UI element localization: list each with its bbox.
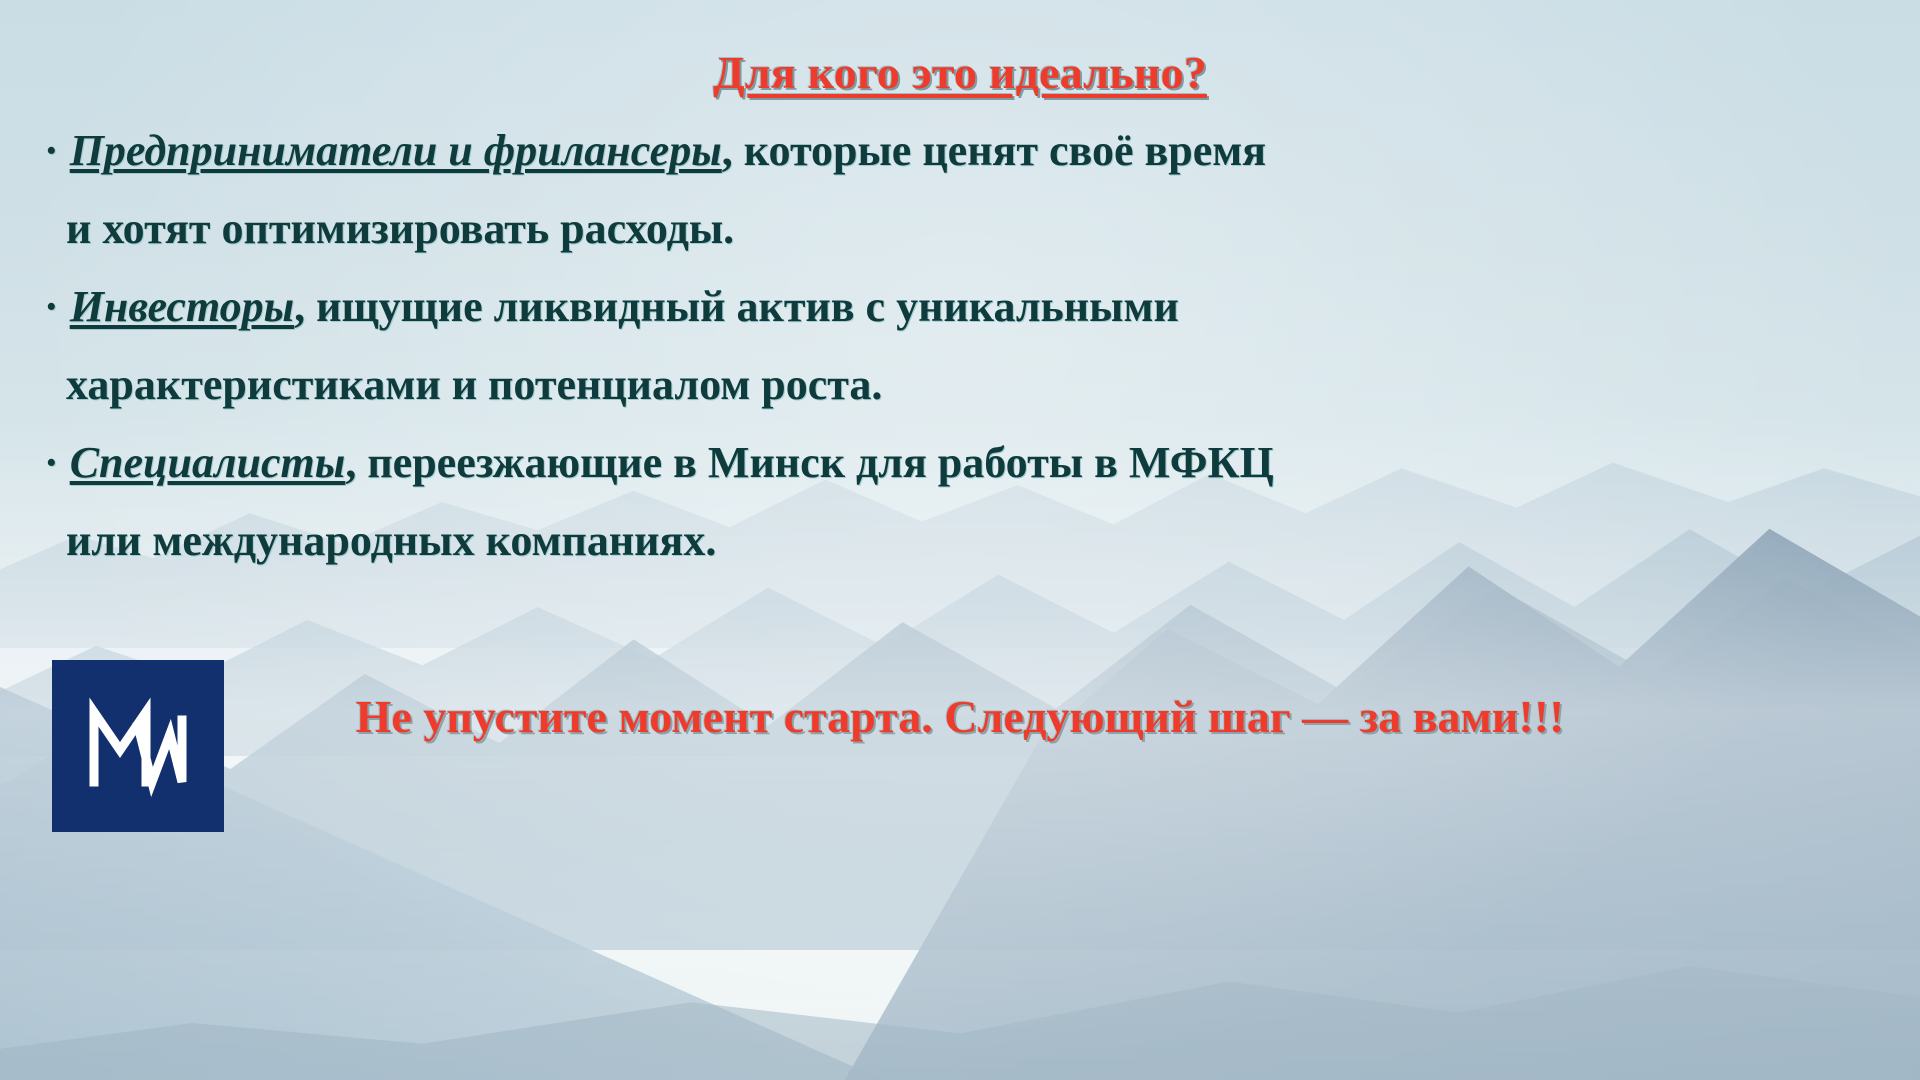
text-content-layer: Для кого это идеально? · Предприниматели…	[0, 0, 1920, 1080]
page-title: Для кого это идеально?	[0, 46, 1920, 99]
bullet-marker: ·	[44, 282, 59, 331]
page-title-text: Для кого это идеально?	[713, 47, 1207, 98]
call-to-action-text: Не упустите момент старта. Следующий шаг…	[0, 690, 1920, 743]
list-item: · Специалисты, переезжающие в Минск для …	[44, 424, 1890, 502]
bullet-marker: ·	[44, 438, 59, 487]
bullet-rest: , переезжающие в Минск для работы в МФКЦ	[345, 438, 1273, 487]
bullet-emphasis: Специалисты	[70, 438, 346, 487]
brand-logo	[52, 660, 224, 832]
bullet-emphasis: Предприниматели и фрилансеры	[70, 126, 722, 175]
list-item-continuation: характеристиками и потенциалом роста.	[44, 346, 1890, 424]
list-item-continuation: или международных компаниях.	[44, 502, 1890, 580]
bullet-rest: , ищущие ликвидный актив с уникальными	[294, 282, 1179, 331]
bullet-marker: ·	[44, 126, 59, 175]
bullet-list: · Предприниматели и фрилансеры, которые …	[44, 112, 1890, 580]
slide-canvas: Для кого это идеально? · Предприниматели…	[0, 0, 1920, 1080]
list-item: · Предприниматели и фрилансеры, которые …	[44, 112, 1890, 190]
list-item-continuation: и хотят оптимизировать расходы.	[44, 190, 1890, 268]
mw-monogram-icon	[78, 686, 198, 806]
bullet-emphasis: Инвесторы	[70, 282, 294, 331]
bullet-rest: , которые ценят своё время	[722, 126, 1266, 175]
list-item: · Инвесторы, ищущие ликвидный актив с ун…	[44, 268, 1890, 346]
